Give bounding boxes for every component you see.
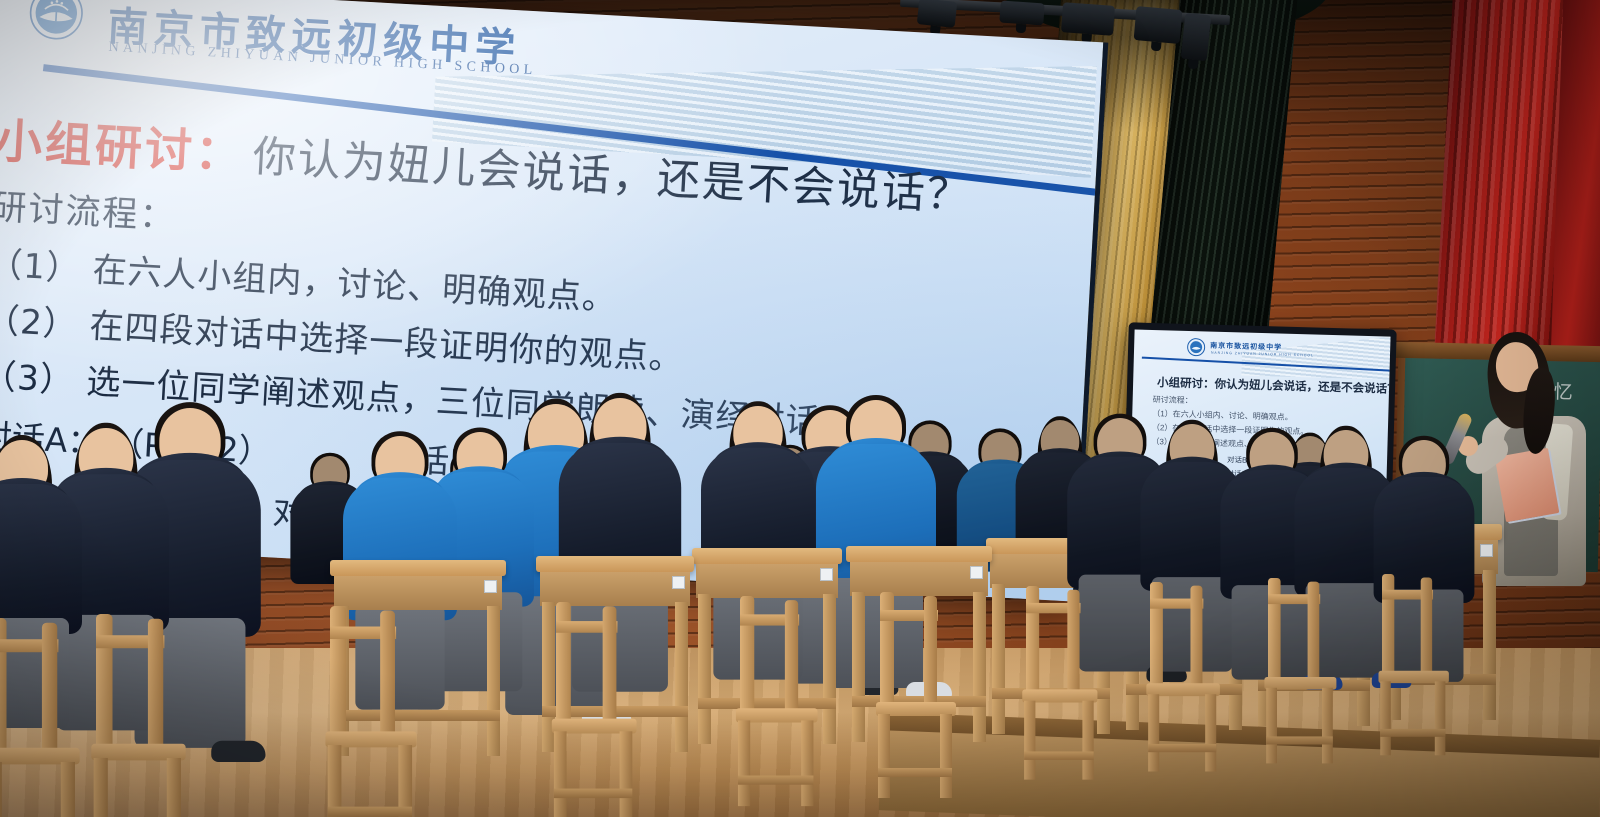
desk-tag: [820, 568, 833, 581]
desk-tag: [970, 566, 983, 579]
slide-title-prefix: 小组研讨：: [0, 102, 247, 185]
auditorium-scene: 南京市致远初级中学 NANJING ZHIYUAN JUNIOR HIGH SC…: [0, 0, 1600, 817]
monitor-photo-band: [1241, 332, 1391, 380]
stage-light-icon: [1061, 2, 1115, 36]
book-icon: [1495, 448, 1560, 522]
school-emblem-icon: [13, 0, 100, 45]
desk-tag: [484, 580, 497, 593]
desk-tag: [672, 576, 685, 589]
desk-tag: [1480, 544, 1493, 557]
stage-light-icon: [1181, 13, 1212, 61]
monitor-subhead: 研讨流程：: [1153, 394, 1193, 406]
school-emblem-icon: [1186, 337, 1207, 358]
stage-light-icon: [999, 0, 1044, 25]
stage-light-icon: [1134, 6, 1183, 44]
monitor-step: （1）在六人小组内、讨论、明确观点。: [1152, 408, 1293, 423]
stage-light-icon: [917, 0, 958, 28]
